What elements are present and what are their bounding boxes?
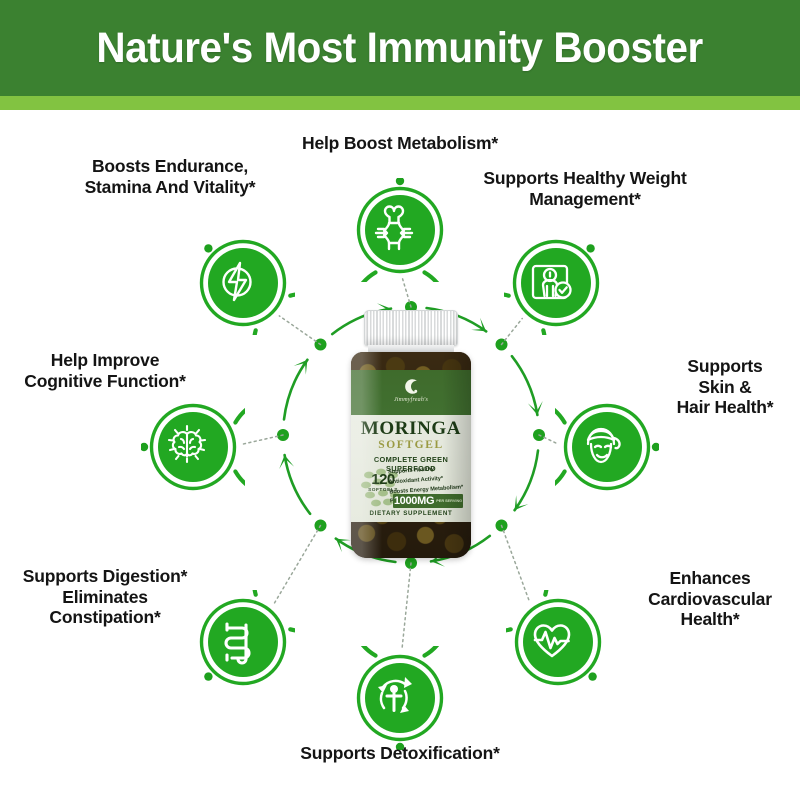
benefit-label-cognitive-function: Help Improve Cognitive Function* — [0, 350, 230, 391]
benefit-badge-detoxification[interactable] — [348, 646, 452, 750]
hub-arrowhead — [509, 495, 529, 514]
benefit-badge-cognitive-function[interactable] — [141, 395, 245, 499]
label-top-band: Jimmyfreah's — [351, 370, 471, 415]
hub-arrow-arc — [515, 451, 538, 511]
benefit-badge-endurance-stamina-vitality[interactable] — [191, 231, 295, 335]
brand-script: Jimmyfreah's — [394, 397, 428, 403]
benefit-badge-boost-metabolism[interactable] — [348, 178, 452, 282]
benefit-label-boost-metabolism: Help Boost Metabolism* — [275, 133, 525, 154]
hub-dot — [496, 520, 508, 532]
strength-sub: PER SERVING — [436, 499, 462, 503]
product-name: MORINGA — [351, 418, 471, 440]
hub-dot — [315, 520, 327, 532]
connector-line — [402, 563, 411, 649]
bottle-cap — [364, 310, 458, 346]
bottle-label: Jimmyfreah's MORINGA SOFTGEL COMPLETE GR… — [351, 370, 471, 522]
hub-arrow-arc — [512, 356, 538, 415]
header-accent-strip — [0, 96, 800, 110]
product-form: SOFTGEL — [351, 439, 471, 451]
infographic-page: Nature's Most Immunity Booster — [0, 0, 800, 800]
hub-dot — [277, 429, 289, 441]
strength-bar: 1000MG PER SERVING — [393, 494, 463, 508]
hub-dot — [496, 339, 508, 351]
hub-arrow-arc — [284, 360, 307, 420]
connector-line — [242, 435, 283, 444]
hub-arrowhead — [277, 454, 294, 469]
benefits-diagram: Help Boost Metabolism* Supports Healthy … — [0, 110, 800, 800]
crescent-c-logo-icon — [402, 377, 420, 396]
hub-dot — [533, 429, 545, 441]
hub-arrowhead — [528, 401, 545, 416]
product-bottle: Jimmyfreah's MORINGA SOFTGEL COMPLETE GR… — [345, 310, 477, 560]
benefit-label-detoxification: Supports Detoxification* — [275, 743, 525, 764]
benefit-label-endurance-stamina-vitality: Boosts Endurance, Stamina And Vitality* — [45, 156, 295, 197]
hub-arrowhead — [294, 355, 314, 374]
supplement-line: DIETARY SUPPLEMENT — [351, 510, 471, 517]
benefit-label-skin-hair-health: Supports Skin & Hair Health* — [600, 356, 800, 418]
connector-line — [403, 279, 411, 307]
benefit-badge-healthy-weight-management[interactable] — [504, 231, 608, 335]
benefit-label-digestion-constipation: Supports Digestion* Eliminates Constipat… — [0, 566, 230, 628]
strength-value: 1000MG — [394, 495, 434, 507]
benefit-label-cardiovascular-health: Enhances Cardiovascular Health* — [585, 568, 800, 630]
hub-arrow-arc — [285, 455, 311, 514]
header-banner: Nature's Most Immunity Booster — [0, 0, 800, 96]
hub-dot — [315, 339, 327, 351]
benefit-label-healthy-weight-management: Supports Healthy Weight Management* — [460, 168, 710, 209]
bottle-body: Jimmyfreah's MORINGA SOFTGEL COMPLETE GR… — [351, 352, 471, 558]
page-title: Nature's Most Immunity Booster — [97, 24, 703, 73]
